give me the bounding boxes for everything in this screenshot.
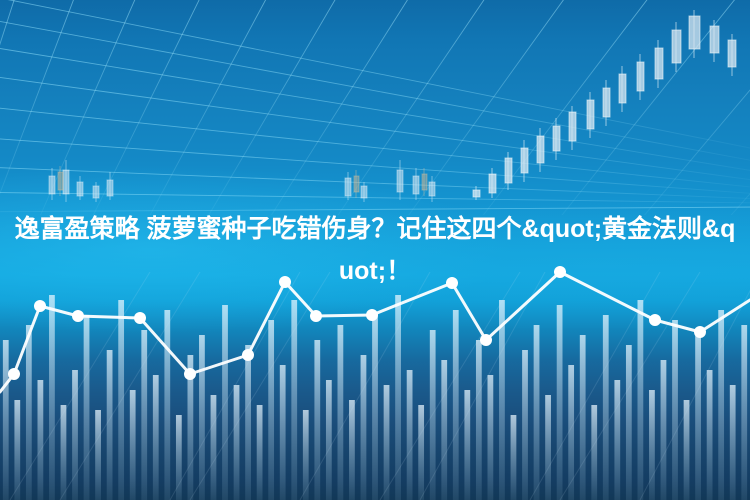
trend-node [184, 368, 196, 380]
trend-node [649, 314, 661, 326]
trend-node [480, 334, 492, 346]
trend-node [134, 312, 146, 324]
trend-node [242, 349, 254, 361]
banner-title-line-2: uot;！ [0, 250, 750, 292]
trend-node [310, 310, 322, 322]
trend-node [8, 368, 20, 380]
trend-node [72, 310, 84, 322]
trend-node [366, 309, 378, 321]
banner-image: 逸富盈策略 菠萝蜜种子吃错伤身？记住这四个&quot;黄金法则&q uot;！ [0, 0, 750, 500]
banner-title: 逸富盈策略 菠萝蜜种子吃错伤身？记住这四个&quot;黄金法则&q uot;！ [0, 208, 750, 292]
banner-title-line-1: 逸富盈策略 菠萝蜜种子吃错伤身？记住这四个&quot;黄金法则&q [0, 208, 750, 250]
trend-node [694, 326, 706, 338]
trend-node [34, 300, 46, 312]
